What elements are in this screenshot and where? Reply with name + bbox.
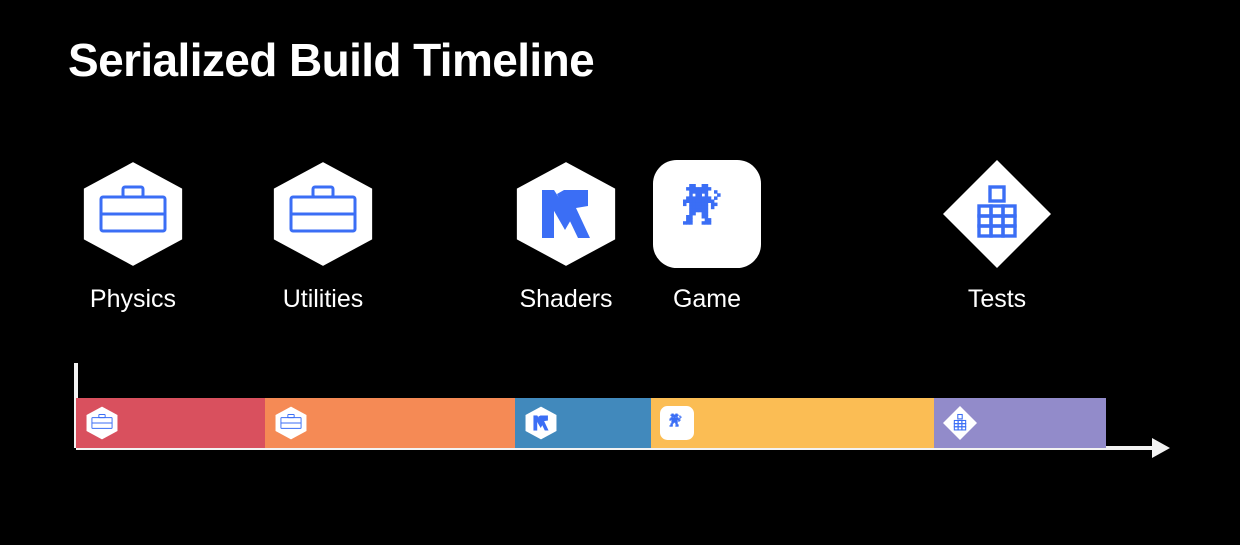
target-label: Utilities (243, 284, 403, 314)
target-label: Physics (53, 284, 213, 314)
target-physics[interactable]: Physics (53, 160, 213, 314)
test-grid-diamond-icon (943, 406, 977, 440)
target-badge-row: PhysicsUtilitiesShadersGameTests (0, 160, 1240, 340)
metal-m-hexagon-icon[interactable] (512, 160, 620, 268)
pixel-robot-app-icon (660, 406, 694, 440)
toolbox-hexagon-icon (85, 406, 119, 440)
toolbox-hexagon-icon[interactable] (79, 160, 187, 268)
target-tests[interactable]: Tests (917, 160, 1077, 314)
target-game[interactable]: Game (627, 160, 787, 314)
timeline-segment-physics[interactable] (76, 398, 265, 448)
target-utilities[interactable]: Utilities (243, 160, 403, 314)
timeline-segment-utilities[interactable] (265, 398, 515, 448)
pixel-robot-app-icon[interactable] (653, 160, 761, 268)
toolbox-hexagon-icon (274, 406, 308, 440)
metal-m-hexagon-icon (524, 406, 558, 440)
test-grid-diamond-icon[interactable] (943, 160, 1051, 268)
toolbox-hexagon-icon[interactable] (269, 160, 377, 268)
target-label: Shaders (486, 284, 646, 314)
page-title: Serialized Build Timeline (68, 33, 594, 87)
target-label: Tests (917, 284, 1077, 314)
target-shaders[interactable]: Shaders (486, 160, 646, 314)
timeline-segment-game[interactable] (651, 398, 934, 448)
timeline-segment-shaders[interactable] (515, 398, 651, 448)
target-label: Game (627, 284, 787, 314)
timeline-segment-tests[interactable] (934, 398, 1106, 448)
x-axis-arrowhead (1152, 438, 1170, 458)
